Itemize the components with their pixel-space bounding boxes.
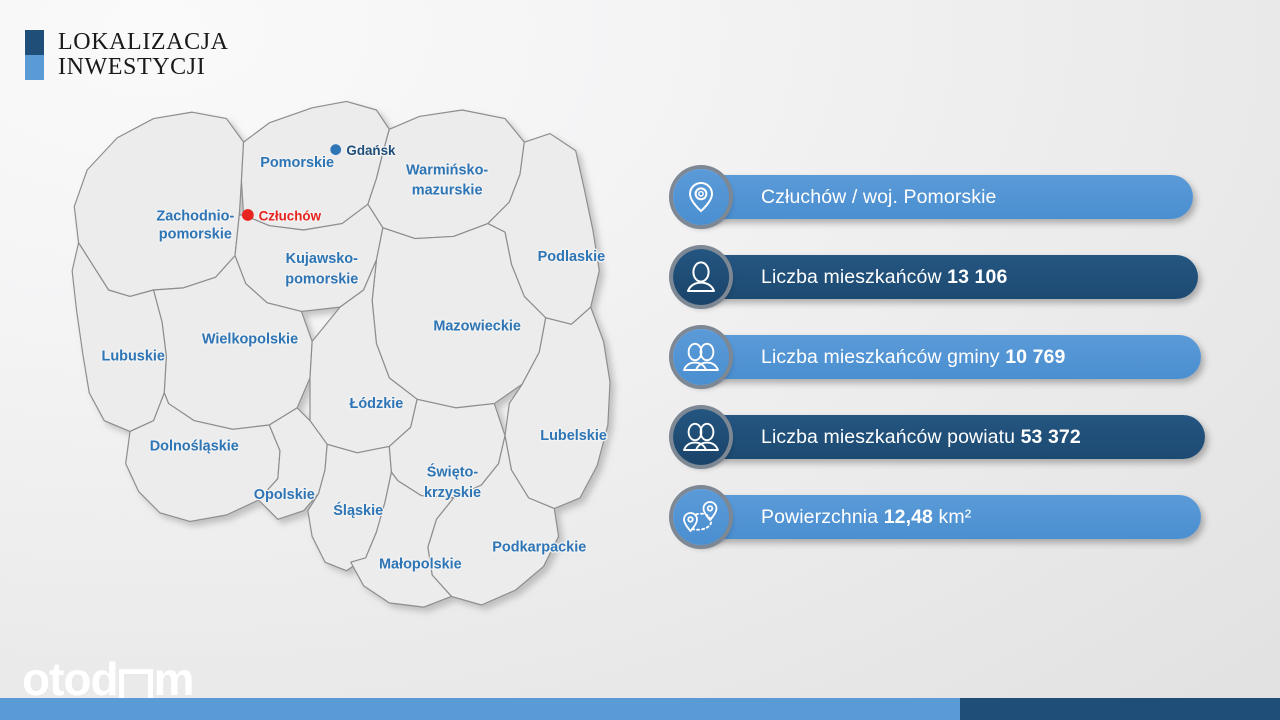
info-bar-area[interactable]: Powierzchnia 12,48 km² bbox=[665, 488, 1225, 546]
info-bar-area-value: 12,48 bbox=[884, 506, 933, 528]
map-pin-icon bbox=[665, 168, 737, 226]
two-people-icon bbox=[665, 328, 737, 386]
info-bar-residents-label: Liczba mieszkańców bbox=[761, 266, 947, 288]
title-text: LOKALIZACJA INWESTYCJI bbox=[58, 30, 229, 80]
page-title: LOKALIZACJA INWESTYCJI bbox=[25, 30, 229, 80]
bottom-bar-dark-segment bbox=[960, 698, 1280, 720]
info-bar-residents-value: 13 106 bbox=[947, 266, 1007, 288]
otodom-logo-text-a: otod bbox=[22, 656, 118, 702]
info-bar-location-body: Człuchów / woj. Pomorskie bbox=[693, 175, 1193, 219]
info-bar-area-text: Powierzchnia 12,48 km² bbox=[761, 506, 971, 529]
region-label-swietokrzyskie-2: krzyskie bbox=[424, 485, 481, 501]
bottom-bar-light-segment bbox=[0, 698, 960, 720]
two-people-icon bbox=[665, 408, 737, 466]
region-label-podlaskie: Podlaskie bbox=[538, 249, 605, 265]
region-label-kujawsko-pomorskie-2: pomorskie bbox=[285, 272, 358, 288]
region-label-dolnoslaskie: Dolnośląskie bbox=[150, 439, 239, 455]
info-bar-powiat-text: Liczba mieszkańców powiatu 53 372 bbox=[761, 426, 1081, 449]
info-bars: Człuchów / woj. Pomorskie Liczba mieszka… bbox=[665, 168, 1225, 568]
poland-map: Zachodnio- pomorskie Pomorskie Warmińsko… bbox=[55, 85, 655, 645]
region-label-opolskie: Opolskie bbox=[254, 487, 315, 503]
region-zachodniopomorskie bbox=[74, 112, 243, 296]
region-label-podkarpackie: Podkarpackie bbox=[492, 539, 586, 555]
region-label-slaskie: Śląskie bbox=[333, 501, 383, 519]
info-bar-area-unit: km² bbox=[933, 506, 971, 528]
region-label-malopolskie: Małopolskie bbox=[379, 557, 462, 573]
info-bar-powiat-value: 53 372 bbox=[1021, 426, 1081, 448]
info-bar-residents-text: Liczba mieszkańców 13 106 bbox=[761, 266, 1007, 289]
title-line-2: INWESTYCJI bbox=[58, 55, 229, 80]
info-bar-residents-body: Liczba mieszkańców 13 106 bbox=[693, 255, 1198, 299]
bottom-accent-bar bbox=[0, 698, 1280, 720]
info-bar-gmina-body: Liczba mieszkańców gminy 10 769 bbox=[693, 335, 1201, 379]
route-pins-icon bbox=[665, 488, 737, 546]
city-label-gdansk: Gdańsk bbox=[346, 143, 396, 158]
otodom-logo-text-b: m bbox=[154, 656, 194, 702]
info-bar-gmina[interactable]: Liczba mieszkańców gminy 10 769 bbox=[665, 328, 1225, 386]
region-label-warminsko-mazurskie-2: mazurskie bbox=[412, 183, 483, 199]
region-label-lubelskie: Lubelskie bbox=[540, 428, 607, 444]
region-label-warminsko-mazurskie: Warmińsko- bbox=[406, 162, 488, 178]
region-label-wielkopolskie: Wielkopolskie bbox=[202, 332, 298, 348]
info-bar-area-label: Powierzchnia bbox=[761, 506, 884, 528]
region-label-kujawsko-pomorskie: Kujawsko- bbox=[286, 251, 358, 267]
region-label-lodzkie: Łódzkie bbox=[350, 396, 404, 412]
info-bar-area-body: Powierzchnia 12,48 km² bbox=[693, 495, 1201, 539]
title-accent-mark bbox=[25, 30, 44, 80]
info-bar-powiat-label: Liczba mieszkańców powiatu bbox=[761, 426, 1021, 448]
region-label-swietokrzyskie: Święto- bbox=[427, 462, 479, 480]
region-label-pomorskie: Pomorskie bbox=[260, 155, 334, 171]
info-bar-gmina-value: 10 769 bbox=[1005, 346, 1065, 368]
info-bar-location-text: Człuchów / woj. Pomorskie bbox=[761, 186, 997, 209]
city-label-czluchow: Człuchów bbox=[259, 208, 322, 223]
info-bar-residents[interactable]: Liczba mieszkańców 13 106 bbox=[665, 248, 1225, 306]
region-label-zachodniopomorskie-2: pomorskie bbox=[159, 227, 232, 243]
poland-map-svg: Zachodnio- pomorskie Pomorskie Warmińsko… bbox=[55, 85, 655, 645]
czluchow-dot-icon bbox=[242, 209, 254, 221]
info-bar-powiat-body: Liczba mieszkańców powiatu 53 372 bbox=[693, 415, 1205, 459]
gdansk-dot-icon bbox=[330, 144, 341, 155]
info-bar-location[interactable]: Człuchów / woj. Pomorskie bbox=[665, 168, 1225, 226]
otodom-logo: otodm bbox=[22, 656, 194, 702]
region-label-mazowieckie: Mazowieckie bbox=[433, 319, 521, 335]
region-label-zachodniopomorskie: Zachodnio- bbox=[156, 208, 234, 224]
info-bar-powiat[interactable]: Liczba mieszkańców powiatu 53 372 bbox=[665, 408, 1225, 466]
person-icon bbox=[665, 248, 737, 306]
region-label-lubuskie: Lubuskie bbox=[101, 349, 164, 365]
info-bar-gmina-text: Liczba mieszkańców gminy 10 769 bbox=[761, 346, 1065, 369]
info-bar-gmina-label: Liczba mieszkańców gminy bbox=[761, 346, 1005, 368]
slide-canvas: LOKALIZACJA INWESTYCJI bbox=[0, 0, 1280, 720]
title-line-1: LOKALIZACJA bbox=[58, 30, 229, 55]
